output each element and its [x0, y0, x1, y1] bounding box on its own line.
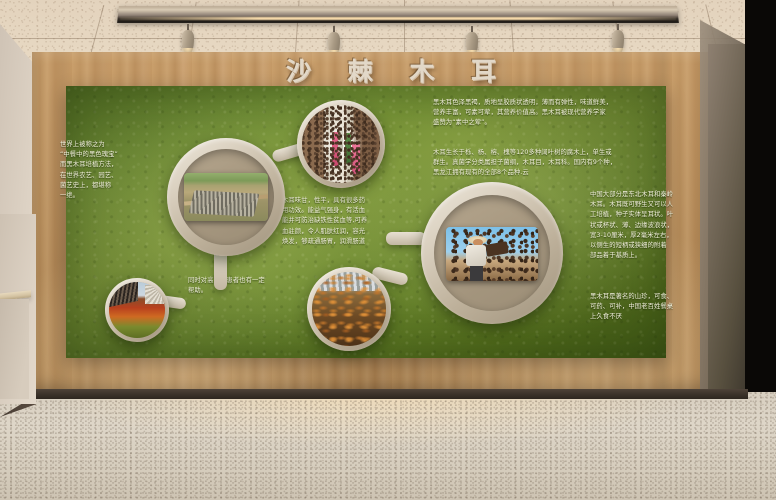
exhibition-hall-scene: 沙 棘 木 耳 世界上被称之为 “中餐中的黑色瑰宝” 而黑木耳培植方法， 在世界… — [0, 0, 776, 500]
text-block-top-right-1: 黑木耳色泽黑褐，质地呈胶质状透明，薄而有弹性，味道鲜美， 营养丰富，可素可荤，其… — [433, 98, 673, 129]
photo-greenhouse-workers[interactable] — [302, 105, 380, 183]
floor-terrazzo-texture — [0, 392, 776, 500]
title-char-2: 棘 — [348, 59, 373, 84]
text-block-top-right-2: 木耳生长于栎、杨、榕、槐等120多种阔叶树的腐木上，单生或 群生。真菌学分类属担… — [433, 148, 673, 179]
text-block-left: 世界上被称之为 “中餐中的黑色瑰宝” 而黑木耳培植方法， 在世界农艺、园艺、 菌… — [60, 140, 168, 201]
photo-circle-greenhouse[interactable] — [297, 100, 385, 188]
photo-circle-farmer-harvest[interactable] — [421, 182, 563, 324]
text-block-middle-sub: 同时对高血压患者也有一定 帮助。 — [188, 276, 292, 296]
spotlight-4 — [612, 24, 624, 54]
right-wall-panel — [708, 44, 748, 400]
text-block-right-bottom: 黑木耳是著名的山珍，可食、 可药、可补，中国老百姓餐桌 上久食不厌 — [590, 292, 678, 323]
photo-circle-seabuckthorn[interactable] — [105, 278, 169, 342]
reception-counter-body — [0, 299, 29, 399]
spotlight-1 — [182, 24, 194, 54]
title-char-3: 木 — [409, 59, 434, 84]
title-char-1: 沙 — [286, 59, 311, 84]
photo-circle-inner — [302, 105, 380, 183]
text-block-middle: 木耳味甘，性平，具有很多药 用功效。能益气强身，有活血 能并可防治缺铁性贫血等,… — [282, 196, 398, 247]
photo-seabuckthorn-field[interactable] — [109, 282, 165, 338]
photo-circle-inner — [434, 195, 550, 311]
photo-culture-bags[interactable] — [312, 272, 386, 346]
floor — [0, 392, 776, 500]
photo-circle-inner — [109, 282, 165, 338]
photo-farmer-harvest[interactable] — [446, 227, 538, 281]
connector-bags-to-farmer — [386, 232, 426, 245]
photo-circle-inner — [312, 272, 386, 346]
board-title: 沙 棘 木 耳 — [286, 56, 496, 86]
ceiling-light-track — [117, 6, 679, 23]
track-light-strip — [120, 17, 676, 20]
photo-circle-culture-bags[interactable] — [307, 267, 391, 351]
photo-aerial-farm[interactable] — [184, 173, 268, 221]
title-char-4: 耳 — [471, 59, 496, 84]
photo-circle-inner — [178, 149, 274, 245]
photo-circle-aerial-farm[interactable] — [167, 138, 285, 256]
text-block-right-middle: 中国大部分是东北木耳和秦岭 木耳。木耳既可野生又可以人 工培植，种子实体呈耳状。… — [590, 190, 678, 261]
baseboard — [32, 389, 748, 399]
